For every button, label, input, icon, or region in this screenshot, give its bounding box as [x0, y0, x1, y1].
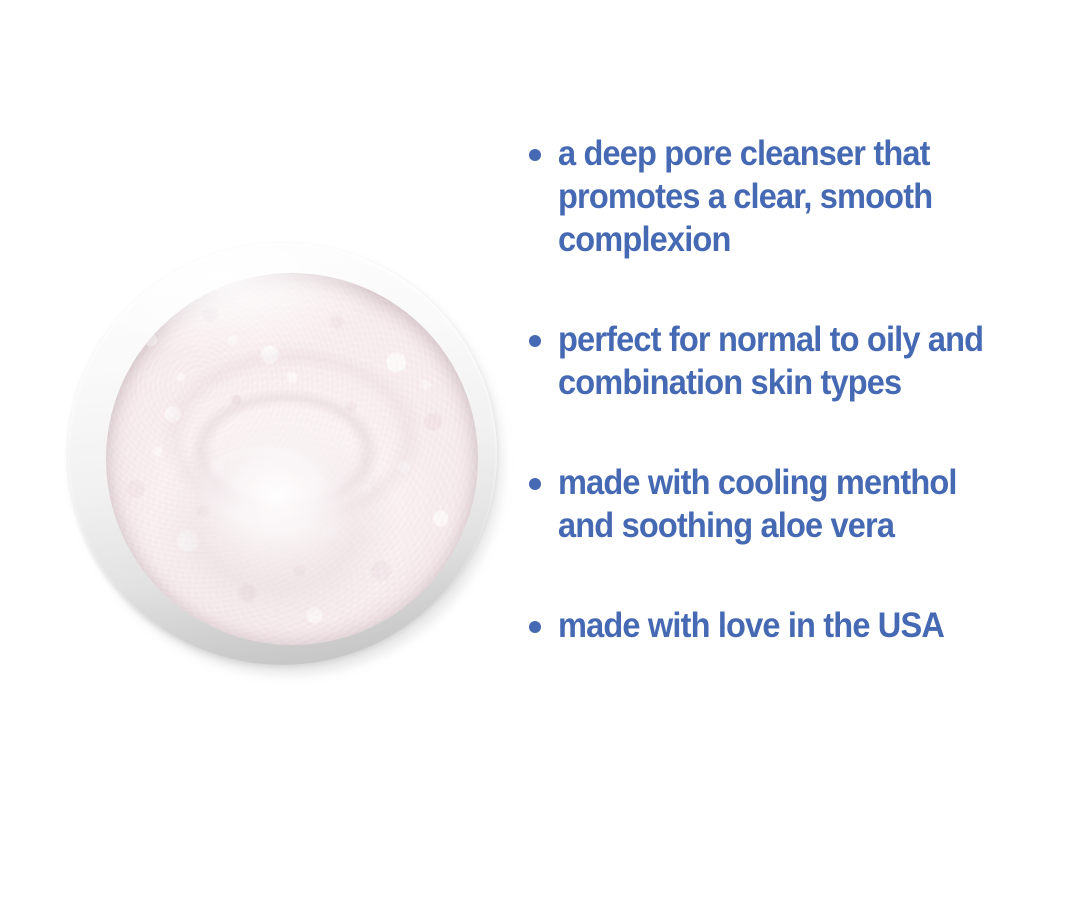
- jar-rim: [68, 243, 497, 665]
- powder-swirl-ridge: [106, 273, 478, 645]
- bullet-point-icon: [529, 149, 541, 161]
- bullet-point-icon: [529, 621, 541, 633]
- list-item: a deep pore cleanser that promotes a cle…: [529, 132, 1069, 261]
- powder-grain-layer-coarse: [106, 273, 478, 645]
- bullet-text-deep-pore-cleanser: a deep pore cleanser that promotes a cle…: [558, 132, 1033, 261]
- product-image-jar-of-powder: [58, 233, 508, 675]
- powder-grain-layer-fine: [106, 273, 478, 645]
- bullet-text-skin-types: perfect for normal to oily and combinati…: [558, 318, 1033, 404]
- bullet-text-made-in-usa: made with love in the USA: [558, 604, 1033, 647]
- list-item: perfect for normal to oily and combinati…: [529, 318, 1069, 404]
- product-feature-panel: a deep pore cleanser that promotes a cle…: [0, 0, 1069, 913]
- powder-surface: [106, 273, 478, 645]
- powder-center-mound: [106, 273, 478, 645]
- feature-bullet-list: a deep pore cleanser that promotes a cle…: [529, 132, 1069, 647]
- list-item: made with cooling menthol and soothing a…: [529, 461, 1069, 547]
- list-item: made with love in the USA: [529, 604, 1069, 647]
- bullet-point-icon: [529, 335, 541, 347]
- powder-inner-wall-shadow: [106, 273, 478, 645]
- powder-grain-layer-speckle: [106, 273, 478, 645]
- bullet-point-icon: [529, 478, 541, 490]
- bullet-text-menthol-aloe: made with cooling menthol and soothing a…: [558, 461, 1033, 547]
